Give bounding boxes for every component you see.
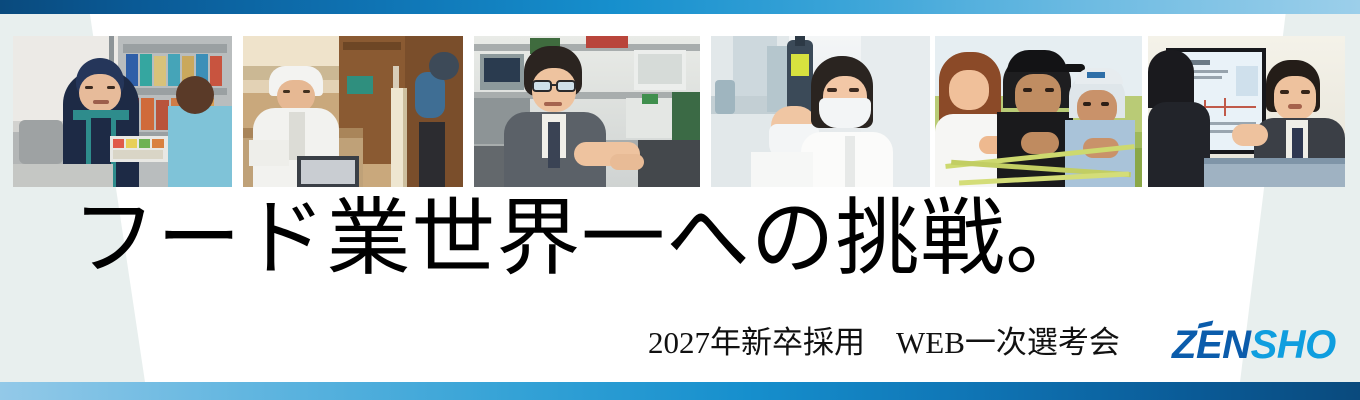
photo-lab-technician-pipetting [711, 36, 930, 187]
photo-engineer-operating-machinery [474, 36, 700, 187]
logo-text-dark: ZEN [1172, 323, 1251, 367]
subtitle: 2027年新卒採用 WEB一次選考会 [648, 327, 1120, 358]
photo-strip [0, 36, 1360, 187]
page-title: フード業世界一への挑戦。 [72, 198, 1090, 282]
recruitment-banner: フード業世界一への挑戦。 2027年新卒採用 WEB一次選考会 ZENSHO [0, 0, 1360, 400]
photo-presentation-meeting [1148, 36, 1345, 187]
bottom-gradient-rule [0, 382, 1360, 400]
photo-deli-staff-serving-customer [13, 36, 232, 187]
logo-text-light: SHO [1251, 323, 1336, 367]
zensho-logo[interactable]: ZENSHO [1172, 325, 1336, 365]
photo-factory-worker-at-workstation [243, 36, 463, 187]
photo-rice-field-inspection [935, 36, 1142, 187]
top-gradient-rule [0, 0, 1360, 14]
